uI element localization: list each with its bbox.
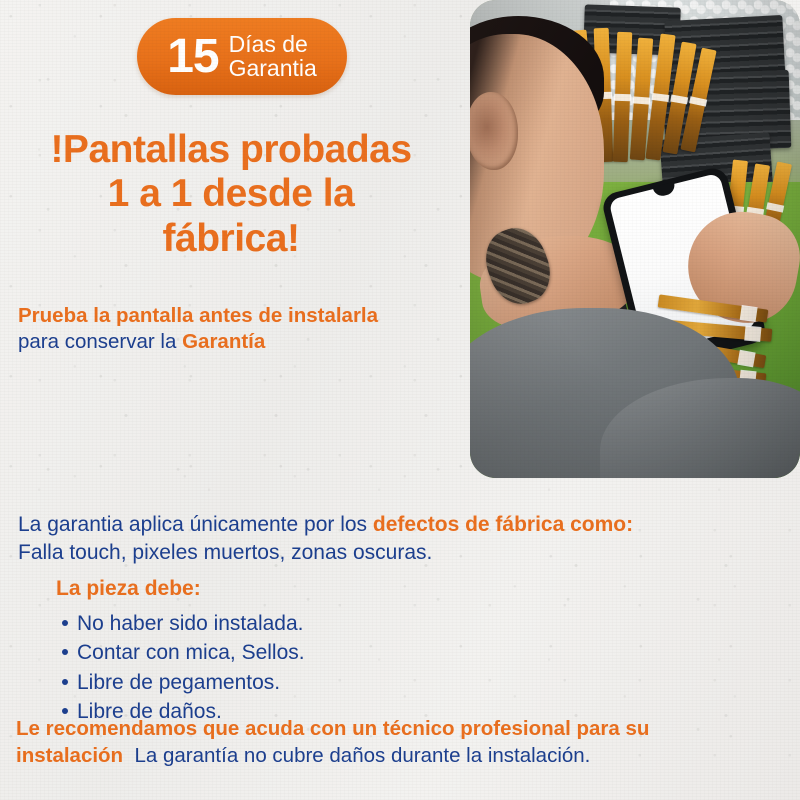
requirements-title: La pieza debe: (56, 577, 201, 601)
list-item-label: Contar con mica, Sellos. (77, 638, 305, 667)
bullet-dot-icon (62, 679, 68, 685)
bullet-dot-icon (62, 649, 68, 655)
subheadline-line-2: para conservar la Garantía (18, 329, 470, 355)
headline-line-2: 1 a 1 desde la (6, 172, 456, 216)
photo-technician-ear (470, 92, 518, 170)
photo-flex-cable (613, 32, 633, 162)
warranty-intro-line-1-text: La garantia aplica únicamente por los (18, 513, 373, 536)
footer-line-1: Le recomendamos que acuda con un técnico… (16, 715, 796, 742)
badge-line-garantia: Garantia (229, 57, 317, 80)
subheadline-line-1: Prueba la pantalla antes de instalarla (18, 303, 470, 329)
warranty-intro-line-1: La garantia aplica únicamente por los de… (18, 511, 788, 539)
list-item: No haber sido instalada. (62, 609, 305, 638)
warranty-badge: 15 Días de Garantia (137, 18, 347, 95)
list-item-label: No haber sido instalada. (77, 609, 303, 638)
requirements-list: No haber sido instalada. Contar con mica… (62, 609, 305, 727)
footer-line-2: instalación La garantía no cubre daños d… (16, 742, 796, 769)
promo-poster: 15 Días de Garantia !Pantallas probadas … (0, 0, 800, 800)
warranty-intro-line-2: Falla touch, pixeles muertos, zonas oscu… (18, 539, 788, 567)
warranty-intro-paragraph: La garantia aplica únicamente por los de… (18, 511, 788, 567)
bullet-dot-icon (62, 620, 68, 626)
technician-testing-photo (470, 0, 800, 478)
list-item-label: Libre de pegamentos. (77, 668, 280, 697)
warranty-intro-emphasis: defectos de fábrica como: (373, 513, 633, 536)
list-item: Contar con mica, Sellos. (62, 638, 305, 667)
footer-line-2-text: La garantía no cubre daños durante la in… (135, 744, 591, 767)
badge-days-number: 15 (167, 33, 218, 81)
headline-line-1: !Pantallas probadas (6, 128, 456, 172)
badge-text-lines: Días de Garantia (229, 33, 317, 80)
footer-emphasis-instalacion: instalación (16, 744, 123, 767)
headline-line-3: fábrica! (6, 217, 456, 261)
subheadline-emphasis-garantia: Garantía (182, 330, 265, 353)
bullet-dot-icon (62, 708, 68, 714)
footer-emphasis-line-1: Le recomendamos que acuda con un técnico… (16, 717, 649, 740)
headline: !Pantallas probadas 1 a 1 desde la fábri… (6, 128, 456, 261)
footer-recommendation: Le recomendamos que acuda con un técnico… (16, 715, 796, 770)
list-item: Libre de pegamentos. (62, 668, 305, 697)
subheadline-line-2-text: para conservar la (18, 330, 182, 353)
subheadline: Prueba la pantalla antes de instalarla p… (18, 303, 470, 355)
badge-line-dias-de: Días de (229, 33, 317, 56)
